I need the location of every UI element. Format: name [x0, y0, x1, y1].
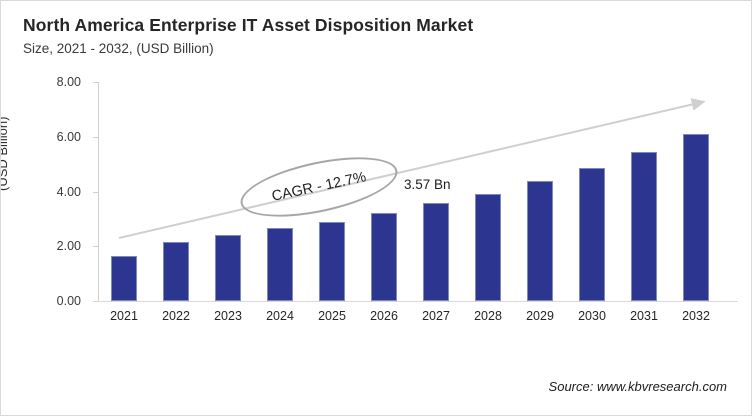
page-subtitle: Size, 2021 - 2032, (USD Billion) [23, 41, 214, 56]
chart-figure: North America Enterprise IT Asset Dispos… [0, 0, 752, 416]
y-tick-label: 0.00 [25, 294, 81, 308]
bar-2028 [475, 194, 501, 301]
y-axis-title: (USD Billion) [0, 117, 10, 191]
x-tick-label-2029: 2029 [514, 309, 566, 323]
bar-2022 [163, 242, 189, 301]
bar-2029 [527, 181, 553, 301]
source-note: Source: www.kbvresearch.com [549, 379, 727, 394]
y-tick-mark [93, 246, 98, 247]
cagr-annotation: CAGR - 12.7% [239, 162, 399, 212]
x-tick-label-2032: 2032 [670, 309, 722, 323]
bar-2023 [215, 235, 241, 301]
x-tick-label-2021: 2021 [98, 309, 150, 323]
x-tick-label-2031: 2031 [618, 309, 670, 323]
x-tick-label-2030: 2030 [566, 309, 618, 323]
bar-2030 [579, 168, 605, 301]
x-tick-label-2022: 2022 [150, 309, 202, 323]
bar-2031 [631, 152, 657, 301]
y-tick-mark [93, 301, 98, 302]
bar-2026 [371, 213, 397, 301]
y-tick-label: 4.00 [25, 185, 81, 199]
bar-2025 [319, 222, 345, 301]
y-tick-mark [93, 192, 98, 193]
x-tick-label-2023: 2023 [202, 309, 254, 323]
data-label-2027: 3.57 Bn [404, 177, 451, 192]
y-tick-mark [93, 137, 98, 138]
bar-2024 [267, 228, 293, 301]
x-tick-label-2028: 2028 [462, 309, 514, 323]
x-tick-label-2026: 2026 [358, 309, 410, 323]
y-tick-label: 2.00 [25, 239, 81, 253]
bar-2021 [111, 256, 137, 301]
page-title: North America Enterprise IT Asset Dispos… [23, 15, 473, 36]
bar-2027 [423, 203, 449, 301]
bar-2032 [683, 134, 709, 301]
y-tick-label: 6.00 [25, 130, 81, 144]
y-axis-line [98, 82, 99, 302]
x-tick-label-2027: 2027 [410, 309, 462, 323]
x-axis-line [98, 301, 738, 302]
y-tick-label: 8.00 [25, 75, 81, 89]
x-tick-label-2025: 2025 [306, 309, 358, 323]
y-tick-mark [93, 82, 98, 83]
x-tick-label-2024: 2024 [254, 309, 306, 323]
